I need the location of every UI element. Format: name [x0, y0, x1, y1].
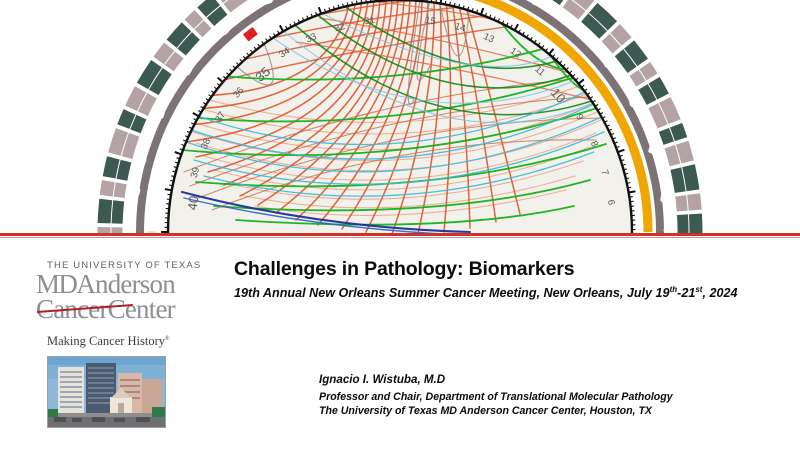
ideogram-band: [189, 15, 199, 24]
tick-label: 31: [364, 15, 376, 27]
subtitle-sup-th: th: [670, 285, 678, 294]
ideogram-band: [689, 166, 694, 191]
ideogram-band: [109, 158, 113, 177]
ideogram-band: [106, 181, 108, 196]
page-title: Challenges in Pathology: Biomarkers: [234, 258, 790, 280]
ideogram-band: [683, 215, 684, 235]
ideogram-band: [202, 0, 216, 12]
ideogram-band: [681, 196, 683, 211]
subtitle-text-3: , 2024: [702, 286, 737, 300]
presenter-name: Ignacio I. Wistuba, M.D: [319, 372, 749, 387]
ideogram-band: [199, 24, 208, 33]
ideogram-band: [670, 147, 675, 165]
ideogram-band: [645, 66, 652, 77]
ideogram-band: [136, 117, 142, 131]
slide-lower-section: THE UNIVERSITY OF TEXAS MDAnderson Cance…: [0, 238, 800, 450]
subtitle-text-2: -21: [677, 286, 695, 300]
circos-genome-plot: 403938373635343332316789101112131415: [0, 0, 800, 235]
ideogram-band: [665, 100, 675, 122]
ideogram-band: [695, 214, 696, 235]
presentation-slide: 403938373635343332316789101112131415 TH: [0, 0, 800, 450]
ideogram-band: [119, 183, 121, 197]
ideogram-band: [131, 89, 141, 108]
md-anderson-logo: THE UNIVERSITY OF TEXAS MDAnderson Cance…: [36, 260, 212, 349]
presenter-block: Ignacio I. Wistuba, M.D Professor and Ch…: [319, 372, 749, 418]
presenter-affiliation-2: The University of Texas MD Anderson Canc…: [319, 404, 749, 418]
logo-tagline: Making Cancer History®: [47, 334, 212, 349]
logo-center-text: Center: [108, 294, 175, 324]
ideogram-band: [104, 200, 106, 224]
ideogram-band: [676, 169, 680, 193]
ideogram-band: [117, 201, 119, 224]
page-subtitle: 19th Annual New Orleans Summer Cancer Me…: [234, 282, 787, 301]
ideogram-band: [122, 161, 126, 180]
ideogram-band: [114, 130, 122, 154]
title-block: Challenges in Pathology: Biomarkers 19th…: [234, 258, 790, 301]
ideogram-band: [694, 194, 696, 210]
logo-tagline-registered-mark: ®: [165, 336, 170, 342]
ideogram-band: [664, 130, 669, 143]
logo-tagline-text: Making Cancer History: [47, 334, 165, 348]
tick-label: 40: [185, 195, 202, 211]
campus-photo-svg: [48, 357, 165, 427]
ideogram-band: [127, 135, 134, 158]
subtitle-text-1: 19th Annual New Orleans Summer Cancer Me…: [234, 286, 670, 300]
tick-label: 15: [424, 15, 436, 27]
ideogram-band: [159, 47, 170, 61]
ideogram-band: [615, 29, 627, 42]
circos-svg: 403938373635343332316789101112131415: [0, 0, 800, 235]
ideogram-band: [676, 125, 681, 139]
ideogram-band: [634, 73, 641, 84]
logo-wordmark: MDAnderson CancerCenter: [36, 272, 212, 322]
ideogram-band: [643, 87, 652, 103]
ideogram-band: [654, 80, 663, 96]
presenter-affiliation-1: Professor and Chair, Department of Trans…: [319, 390, 749, 404]
ideogram-band: [123, 112, 129, 127]
campus-photo: [47, 356, 166, 428]
ideogram-band: [682, 143, 687, 162]
